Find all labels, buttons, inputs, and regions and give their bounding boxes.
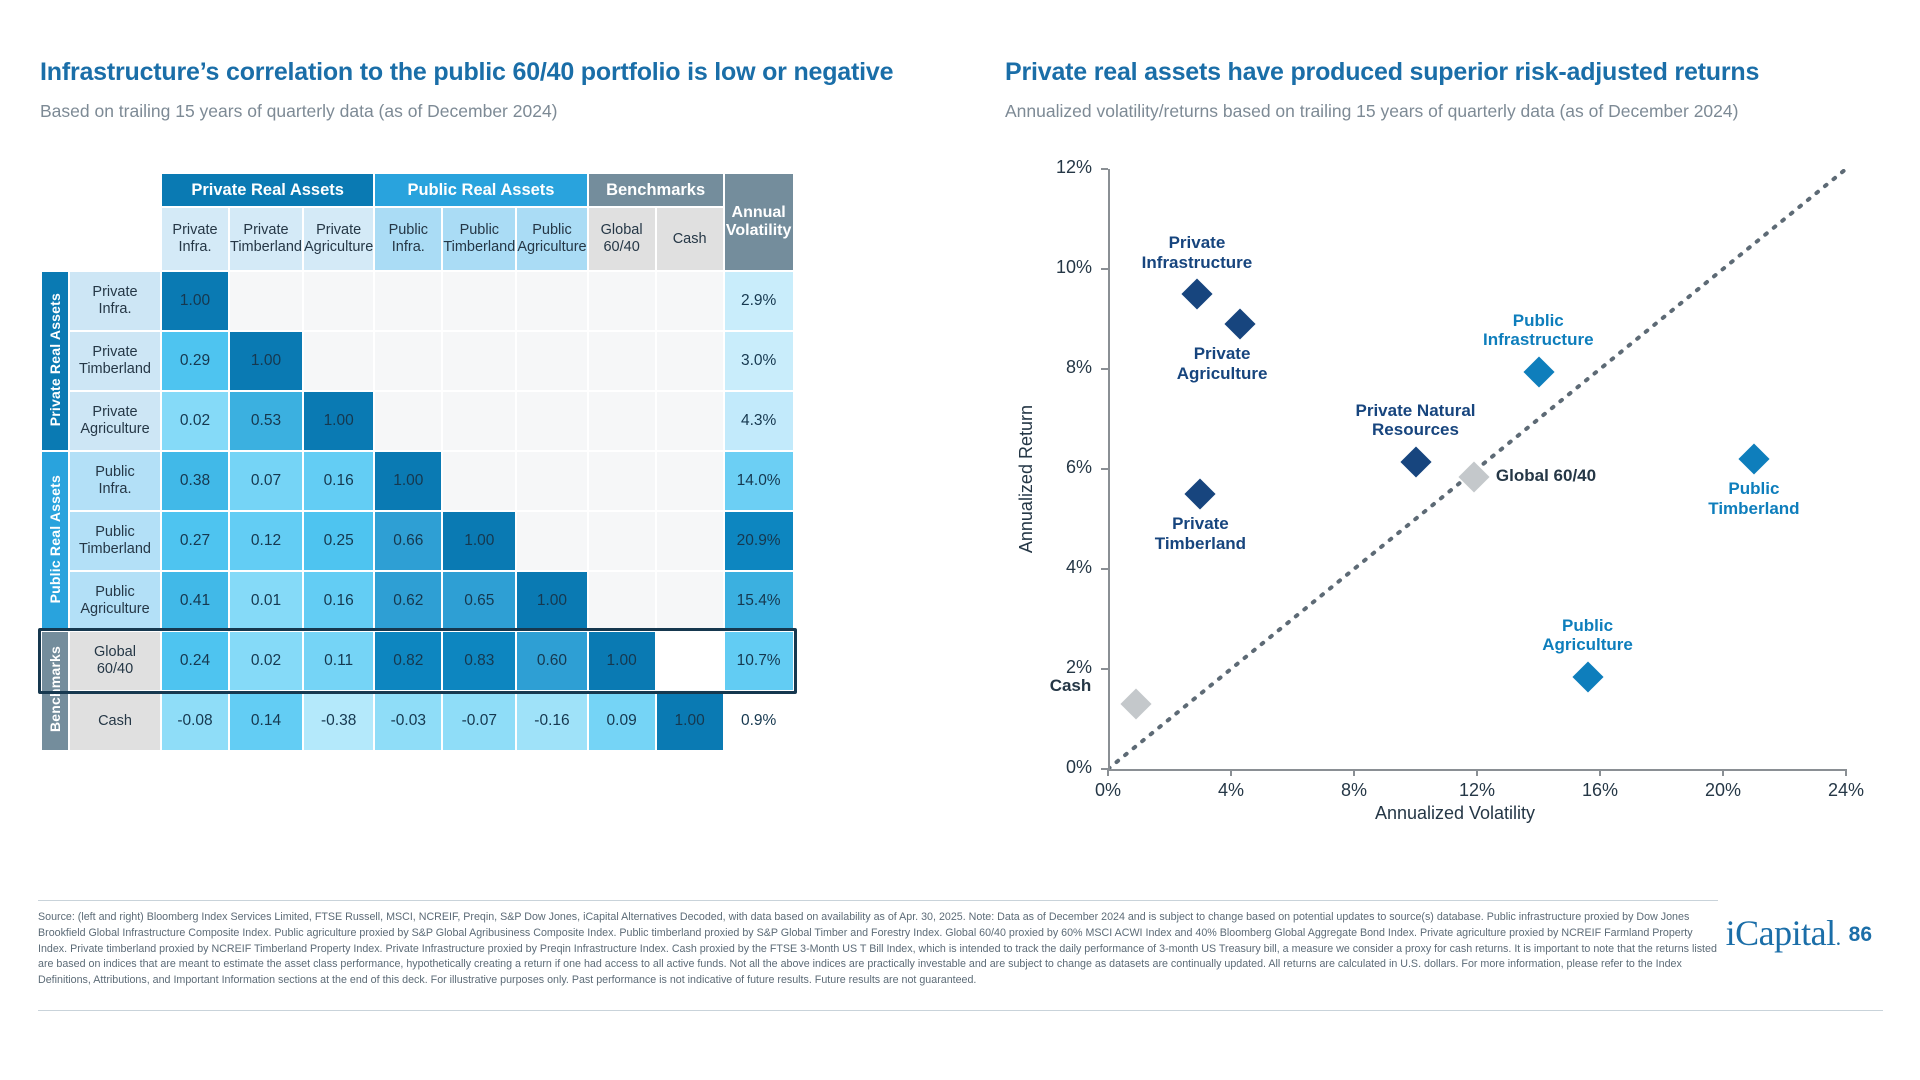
- matrix-cell: 0.14: [230, 692, 302, 750]
- matrix-cell-empty: [443, 332, 515, 390]
- x-tick: [1599, 769, 1601, 776]
- table-row: PrivateAgriculture0.020.531.004.3%: [42, 392, 793, 450]
- group-header-private-real-assets: Private Real Assets: [162, 174, 373, 206]
- matrix-cell: 0.02: [162, 392, 228, 450]
- x-tick-label: 12%: [1447, 780, 1507, 801]
- y-tick: [1101, 568, 1108, 570]
- row-header-private-agriculture: PrivateAgriculture: [70, 392, 160, 450]
- matrix-cell-empty: [657, 512, 723, 570]
- x-tick-label: 0%: [1078, 780, 1138, 801]
- column-header-public-agriculture: PublicAgriculture: [517, 208, 586, 270]
- y-tick: [1101, 668, 1108, 670]
- correlation-matrix: Private Real AssetsPublic Real AssetsBen…: [40, 172, 795, 752]
- matrix-cell-empty: [375, 332, 441, 390]
- scatter-label-private-timberland: Private Timberland: [1155, 514, 1246, 553]
- matrix-cell-empty: [304, 332, 373, 390]
- scatter-point-private-agriculture[interactable]: [1225, 308, 1256, 339]
- matrix-cell: 0.82: [375, 632, 441, 690]
- annual-volatility-value: 4.3%: [725, 392, 793, 450]
- matrix-cell: 0.38: [162, 452, 228, 510]
- scatter-chart: Annualized Return Annualized Volatility …: [1020, 155, 1890, 795]
- x-axis-title: Annualized Volatility: [1020, 803, 1890, 824]
- matrix-cell: 0.53: [230, 392, 302, 450]
- spacer: [42, 174, 68, 206]
- matrix-cell: 0.60: [517, 632, 586, 690]
- matrix-cell: -0.07: [443, 692, 515, 750]
- y-tick-label: 8%: [1034, 357, 1092, 378]
- matrix-cell-empty: [517, 272, 586, 330]
- matrix-cell-empty: [375, 392, 441, 450]
- group-header-row: Private Real AssetsPublic Real AssetsBen…: [42, 174, 793, 206]
- column-header-public-infra-: PublicInfra.: [375, 208, 441, 270]
- matrix-cell-empty: [443, 392, 515, 450]
- matrix-cell-empty: [657, 272, 723, 330]
- annual-volatility-value: 14.0%: [725, 452, 793, 510]
- matrix-cell: 0.07: [230, 452, 302, 510]
- matrix-cell-empty: [517, 332, 586, 390]
- column-header-private-timberland: PrivateTimberland: [230, 208, 302, 270]
- matrix-cell: 0.24: [162, 632, 228, 690]
- left-panel-title: Infrastructure’s correlation to the publ…: [40, 58, 970, 87]
- matrix-cell: 1.00: [657, 692, 723, 750]
- matrix-cell: 0.01: [230, 572, 302, 630]
- x-tick-label: 24%: [1816, 780, 1876, 801]
- table-row: Private Real AssetsPrivateInfra.1.002.9%: [42, 272, 793, 330]
- scatter-label-public-infrastructure: Public Infrastructure: [1483, 311, 1594, 350]
- annual-volatility-value: 2.9%: [725, 272, 793, 330]
- scatter-label-global-60-40: Global 60/40: [1496, 466, 1596, 486]
- right-panel-title: Private real assets have produced superi…: [1005, 58, 1885, 87]
- matrix-cell: 0.12: [230, 512, 302, 570]
- scatter-point-global-60-40[interactable]: [1458, 461, 1489, 492]
- left-panel-subtitle: Based on trailing 15 years of quarterly …: [40, 101, 970, 122]
- annual-volatility-value: 10.7%: [725, 632, 793, 690]
- matrix-cell: 0.41: [162, 572, 228, 630]
- table-row: PublicAgriculture0.410.010.160.620.651.0…: [42, 572, 793, 630]
- x-tick: [1722, 769, 1724, 776]
- matrix-cell: 1.00: [375, 452, 441, 510]
- y-axis-title: Annualized Return: [1016, 405, 1037, 553]
- matrix-cell-empty: [657, 332, 723, 390]
- matrix-cell-empty: [657, 392, 723, 450]
- right-panel: Private real assets have produced superi…: [1005, 58, 1885, 122]
- scatter-label-private-natural-resources: Private Natural Resources: [1356, 401, 1476, 440]
- y-tick-label: 6%: [1034, 457, 1092, 478]
- matrix-cell: 0.65: [443, 572, 515, 630]
- scatter-label-cash: Cash: [1050, 676, 1092, 696]
- scatter-label-public-agriculture: Public Agriculture: [1542, 616, 1633, 655]
- matrix-cell-empty: [304, 272, 373, 330]
- spacer: [42, 208, 68, 270]
- x-tick: [1845, 769, 1847, 776]
- footer-divider: [38, 1010, 1883, 1011]
- scatter-point-public-agriculture[interactable]: [1572, 661, 1603, 692]
- annual-volatility-header: AnnualVolatility: [725, 174, 793, 270]
- matrix-cell: 1.00: [162, 272, 228, 330]
- x-tick-label: 16%: [1570, 780, 1630, 801]
- table-row: PrivateTimberland0.291.003.0%: [42, 332, 793, 390]
- matrix-cell-empty: [517, 512, 586, 570]
- matrix-cell: 0.11: [304, 632, 373, 690]
- matrix-cell: 0.09: [589, 692, 655, 750]
- row-header-public-infra-: PublicInfra.: [70, 452, 160, 510]
- matrix-cell: 0.27: [162, 512, 228, 570]
- x-tick: [1476, 769, 1478, 776]
- matrix-cell: 1.00: [304, 392, 373, 450]
- matrix-cell: 1.00: [230, 332, 302, 390]
- x-tick-label: 20%: [1693, 780, 1753, 801]
- scatter-point-private-natural-resources[interactable]: [1400, 446, 1431, 477]
- matrix-cell: 0.62: [375, 572, 441, 630]
- plot-area: 0%2%4%6%8%10%12%0%4%8%12%16%20%24%Privat…: [1108, 169, 1846, 769]
- column-header-public-timberland: PublicTimberland: [443, 208, 515, 270]
- matrix-cell: 0.02: [230, 632, 302, 690]
- matrix-cell: 0.29: [162, 332, 228, 390]
- left-panel: Infrastructure’s correlation to the publ…: [40, 58, 970, 122]
- matrix-cell-empty: [657, 452, 723, 510]
- matrix-cell: -0.08: [162, 692, 228, 750]
- x-tick: [1230, 769, 1232, 776]
- y-tick: [1101, 168, 1108, 170]
- scatter-point-public-timberland[interactable]: [1738, 443, 1769, 474]
- scatter-point-private-infrastructure[interactable]: [1182, 278, 1213, 309]
- column-header-cash: Cash: [657, 208, 723, 270]
- row-header-cash: Cash: [70, 692, 160, 750]
- icapital-logo: iCapital.: [1726, 913, 1841, 953]
- x-tick: [1353, 769, 1355, 776]
- column-header-private-agriculture: PrivateAgriculture: [304, 208, 373, 270]
- matrix-cell-empty: [589, 512, 655, 570]
- scatter-point-public-infrastructure[interactable]: [1523, 356, 1554, 387]
- column-header-global-60-40: Global60/40: [589, 208, 655, 270]
- row-header-private-infra-: PrivateInfra.: [70, 272, 160, 330]
- matrix-cell: 0.16: [304, 452, 373, 510]
- y-tick-label: 2%: [1034, 657, 1092, 678]
- y-tick-label: 12%: [1034, 157, 1092, 178]
- matrix-cell: 1.00: [589, 632, 655, 690]
- matrix-cell: 0.16: [304, 572, 373, 630]
- matrix-cell-empty: [443, 272, 515, 330]
- spacer: [70, 208, 160, 270]
- matrix-cell-empty: [230, 272, 302, 330]
- scatter-point-private-timberland[interactable]: [1185, 478, 1216, 509]
- y-axis-line: [1108, 169, 1110, 769]
- table-row: Public Real AssetsPublicInfra.0.380.070.…: [42, 452, 793, 510]
- y-tick: [1101, 368, 1108, 370]
- table-row: BenchmarksGlobal60/400.240.020.110.820.8…: [42, 632, 793, 690]
- row-header-private-timberland: PrivateTimberland: [70, 332, 160, 390]
- y-tick: [1101, 468, 1108, 470]
- matrix-cell-empty: [517, 452, 586, 510]
- side-group-label-public-real-assets: Public Real Assets: [42, 452, 68, 630]
- table-row: PublicTimberland0.270.120.250.661.0020.9…: [42, 512, 793, 570]
- annual-volatility-value: 20.9%: [725, 512, 793, 570]
- matrix-cell: -0.38: [304, 692, 373, 750]
- scatter-label-public-timberland: Public Timberland: [1708, 479, 1799, 518]
- x-tick: [1107, 769, 1109, 776]
- scatter-label-private-infrastructure: Private Infrastructure: [1142, 233, 1253, 272]
- matrix-cell-empty: [589, 392, 655, 450]
- annual-volatility-value: 0.9%: [725, 692, 793, 750]
- matrix-cell: -0.03: [375, 692, 441, 750]
- row-header-public-timberland: PublicTimberland: [70, 512, 160, 570]
- spacer: [70, 174, 160, 206]
- matrix-cell: 1.00: [517, 572, 586, 630]
- page-number: 86: [1849, 923, 1872, 947]
- annual-volatility-value: 3.0%: [725, 332, 793, 390]
- matrix-cell: -0.16: [517, 692, 586, 750]
- y-tick-label: 0%: [1034, 757, 1092, 778]
- matrix-cell: 0.25: [304, 512, 373, 570]
- y-tick-label: 4%: [1034, 557, 1092, 578]
- footnote: Source: (left and right) Bloomberg Index…: [38, 900, 1718, 989]
- matrix-cell-empty: [589, 452, 655, 510]
- matrix-cell-empty: [657, 572, 723, 630]
- matrix-cell: 0.66: [375, 512, 441, 570]
- matrix-cell: 1.00: [443, 512, 515, 570]
- matrix-cell-empty: [443, 452, 515, 510]
- annual-volatility-value: 15.4%: [725, 572, 793, 630]
- row-header-public-agriculture: PublicAgriculture: [70, 572, 160, 630]
- x-tick-label: 8%: [1324, 780, 1384, 801]
- y-tick-label: 10%: [1034, 257, 1092, 278]
- matrix-cell-empty: [589, 572, 655, 630]
- column-header-private-infra-: PrivateInfra.: [162, 208, 228, 270]
- scatter-point-cash[interactable]: [1120, 688, 1151, 719]
- matrix-cell-empty: [375, 272, 441, 330]
- brand-block: iCapital.86: [1726, 912, 1872, 954]
- x-tick-label: 4%: [1201, 780, 1261, 801]
- y-tick: [1101, 268, 1108, 270]
- group-header-benchmarks: Benchmarks: [589, 174, 723, 206]
- column-header-row: PrivateInfra.PrivateTimberlandPrivateAgr…: [42, 208, 793, 270]
- side-group-label-private-real-assets: Private Real Assets: [42, 272, 68, 450]
- correlation-table: Private Real AssetsPublic Real AssetsBen…: [40, 172, 795, 752]
- row-header-global-60-40: Global60/40: [70, 632, 160, 690]
- side-group-label-benchmarks: Benchmarks: [42, 632, 68, 750]
- scatter-label-private-agriculture: Private Agriculture: [1177, 344, 1268, 383]
- matrix-cell-empty: [657, 632, 723, 690]
- matrix-cell-empty: [589, 272, 655, 330]
- matrix-cell: 0.83: [443, 632, 515, 690]
- matrix-cell-empty: [589, 332, 655, 390]
- group-header-public-real-assets: Public Real Assets: [375, 174, 586, 206]
- table-row: Cash-0.080.14-0.38-0.03-0.07-0.160.091.0…: [42, 692, 793, 750]
- right-panel-subtitle: Annualized volatility/returns based on t…: [1005, 101, 1885, 122]
- matrix-cell-empty: [517, 392, 586, 450]
